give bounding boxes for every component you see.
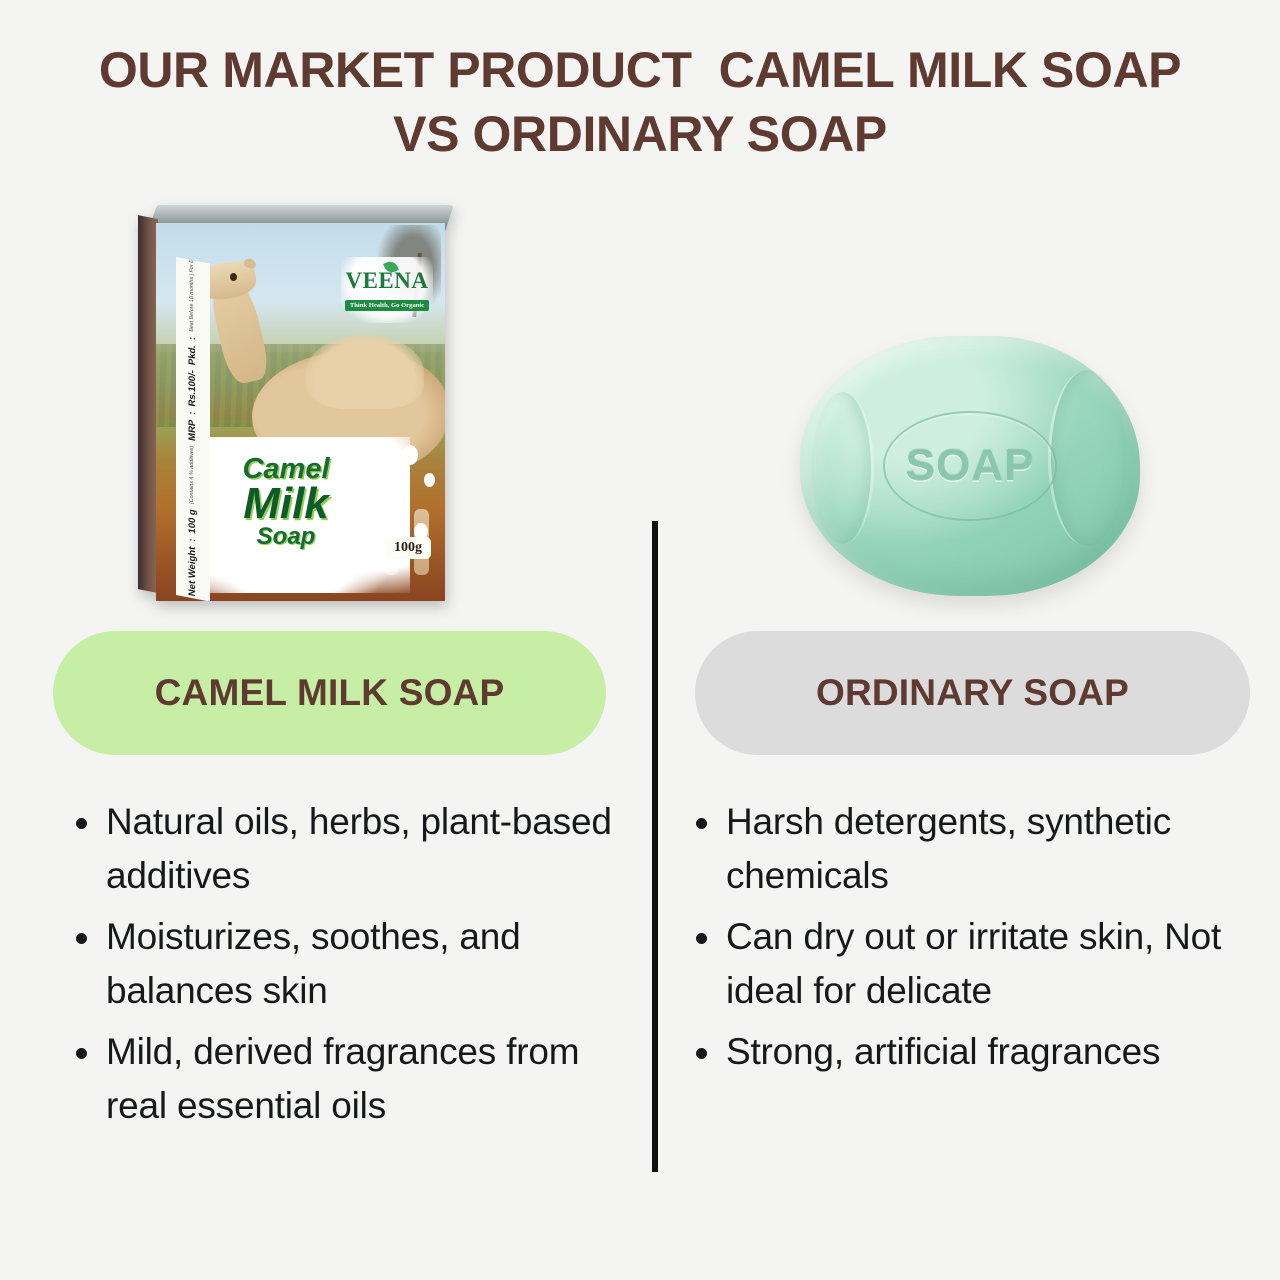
net-weight-note: (Contains 4 % additives) [189,445,195,505]
weight-badge: 100g [385,537,431,559]
veena-logo: VEENA Think Health, Go Organic [341,257,433,323]
page-title: OUR MARKET PRODUCT CAMEL MILK SOAP VS OR… [0,38,1280,166]
milk-droplet [402,445,418,465]
benefit-list-left: Natural oils, herbs, plant-based additiv… [64,795,624,1133]
soap-bar-emboss-oval: SOAP [883,411,1057,521]
net-weight-sep: : [187,537,198,542]
milk-droplet [286,579,302,591]
pill-left-label: CAMEL MILK SOAP [53,672,606,714]
pkd-key: Pkd. [187,344,198,366]
ordinary-soap-bar-image: SOAP [800,336,1140,596]
benefit-list-right: Harsh detergents, synthetic chemicals Ca… [684,795,1259,1079]
list-item: Moisturizes, soothes, and balances skin [64,910,624,1019]
box-front-label: Camel Milk Soap [186,455,386,549]
milk-droplet [424,473,435,487]
camel-milk-soap-benefits: Natural oils, herbs, plant-based additiv… [64,795,624,1139]
side-label-text: Net Weight : 100 g (Contains 4 % additiv… [176,257,208,599]
list-item: Mild, derived fragrances from real essen… [64,1025,624,1134]
mrp-value: Rs.100/- [187,369,198,408]
mrp-sep: : [187,410,198,415]
ordinary-soap-drawbacks: Harsh detergents, synthetic chemicals Ca… [684,795,1259,1085]
soap-emboss-text: SOAP [906,441,1035,491]
list-item: Natural oils, herbs, plant-based additiv… [64,795,624,904]
box-left-side-edge [138,215,158,593]
label-line-soap: Soap [186,525,386,549]
list-item: Harsh detergents, synthetic chemicals [684,795,1259,904]
pkd-sep: : [187,336,198,341]
milk-droplet [234,571,253,584]
net-weight-value: 100 g [187,508,198,534]
soap-bar-body: SOAP [800,336,1140,596]
net-weight-key: Net Weight [187,546,198,598]
mrp-key: MRP [187,419,198,442]
list-item: Can dry out or irritate skin, Not ideal … [684,910,1259,1019]
pill-camel-milk-soap: CAMEL MILK SOAP [53,631,606,755]
logo-tagline: Think Health, Go Organic [345,300,429,311]
pill-right-label: ORDINARY SOAP [695,672,1250,714]
pill-ordinary-soap: ORDINARY SOAP [695,631,1250,755]
box-side-label-panel: Net Weight : 100 g (Contains 4 % additiv… [176,257,210,601]
box-front-face: Camel Milk Soap 100g VEENA Think Health,… [156,223,445,601]
title-line-1: OUR MARKET PRODUCT CAMEL MILK SOAP [0,38,1280,102]
box-3d-group: Camel Milk Soap 100g VEENA Think Health,… [138,205,448,600]
camel-eye [230,273,237,281]
list-item: Strong, artificial fragrances [684,1025,1259,1079]
usage-note: Best Before 18 months | For External Use… [189,257,195,332]
soap-bar-ridge-right [1048,370,1126,546]
label-line-milk: Milk [186,482,386,526]
camel-milk-soap-box-image: Camel Milk Soap 100g VEENA Think Health,… [138,205,448,600]
camel-hump [306,335,424,409]
soap-bar-ridge-left [812,392,874,544]
vertical-divider [652,521,658,1172]
title-line-2: VS ORDINARY SOAP [0,102,1280,166]
